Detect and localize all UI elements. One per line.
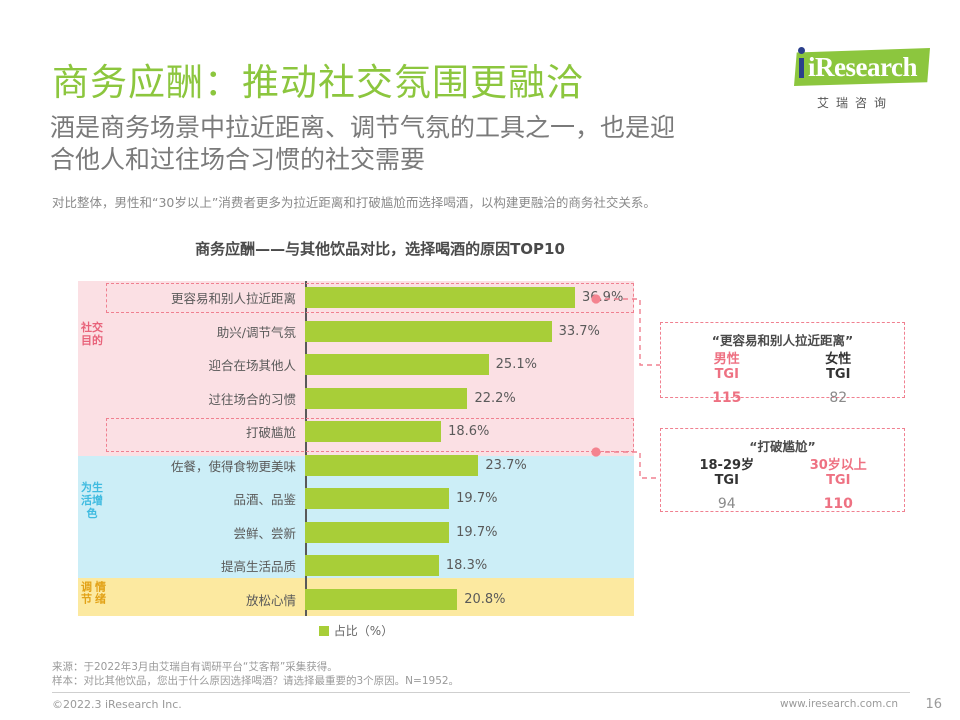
bar-zone: 20.8% bbox=[305, 583, 634, 617]
bar-value-label: 18.6% bbox=[448, 424, 489, 439]
bar-row: 过往场合的习惯22.2% bbox=[106, 382, 634, 416]
bar-zone: 36.9% bbox=[305, 281, 634, 315]
page-number: 16 bbox=[925, 697, 942, 712]
sample-line: 样本：对比其他饮品，您出于什么原因选择喝酒？请选择最重要的3个原因。N=1952… bbox=[52, 674, 552, 688]
bar-zone: 18.6% bbox=[305, 415, 634, 449]
bar-zone: 23.7% bbox=[305, 449, 634, 483]
annotation-1-left-label: 男性 bbox=[671, 352, 783, 367]
bar-value-label: 22.2% bbox=[474, 391, 515, 406]
annotation-box-age: “打破尴尬” 18-29岁 TGI 94 30岁以上 TGI 110 bbox=[660, 428, 905, 512]
bar-row: 佐餐，使得食物更美味23.7% bbox=[106, 449, 634, 483]
bar bbox=[305, 488, 449, 509]
bar-row: 放松心情20.8% bbox=[106, 583, 634, 617]
bar-category-label: 尝鲜、尝新 bbox=[106, 523, 305, 542]
bar-zone: 18.3% bbox=[305, 549, 634, 583]
legend-swatch-icon bbox=[319, 626, 329, 636]
logo-wordmark: iResearch bbox=[808, 52, 917, 83]
bar-value-label: 23.7% bbox=[485, 458, 526, 473]
chart-title: 商务应酬——与其他饮品对比，选择喝酒的原因TOP10 bbox=[0, 238, 760, 259]
annotation-1-left-sub: TGI bbox=[671, 367, 783, 382]
annotation-1-left-value: 115 bbox=[671, 390, 783, 406]
bar-category-label: 佐餐，使得食物更美味 bbox=[106, 456, 305, 475]
bar-row: 尝鲜、尝新19.7% bbox=[106, 516, 634, 550]
bar bbox=[305, 555, 439, 576]
bar-zone: 19.7% bbox=[305, 482, 634, 516]
logo-chinese-name: 艾瑞咨询 bbox=[772, 94, 932, 111]
source-line: 来源：于2022年3月由艾瑞自有调研平台“艾客帮”采集获得。 bbox=[52, 660, 552, 674]
bar-zone: 22.2% bbox=[305, 382, 634, 416]
logo-mark: iResearch bbox=[772, 44, 932, 90]
bar-row: 品酒、品鉴19.7% bbox=[106, 482, 634, 516]
bar bbox=[305, 354, 489, 375]
bar bbox=[305, 522, 449, 543]
bar-row: 提高生活品质18.3% bbox=[106, 549, 634, 583]
bar-row: 迎合在场其他人25.1% bbox=[106, 348, 634, 382]
chart-legend: 占比（%） bbox=[78, 622, 634, 639]
annotation-2-right: 30岁以上 TGI 110 bbox=[783, 458, 895, 512]
bar-category-label: 迎合在场其他人 bbox=[106, 355, 305, 374]
annotation-1-title: “更容易和别人拉近距离” bbox=[671, 330, 894, 349]
bar-zone: 33.7% bbox=[305, 315, 634, 349]
bar-category-label: 过往场合的习惯 bbox=[106, 389, 305, 408]
footer-divider bbox=[52, 692, 910, 693]
bar-chart: 社交目的 为生活增色 调节情绪 更容易和别人拉近距离36.9%助兴/调节气氛33… bbox=[78, 281, 634, 616]
bar-value-label: 19.7% bbox=[456, 525, 497, 540]
copyright-text: ©2022.3 iResearch Inc. bbox=[52, 698, 182, 711]
group-label-mood: 调节情绪 bbox=[78, 581, 108, 605]
annotation-1-right-value: 82 bbox=[783, 390, 895, 406]
bar-value-label: 19.7% bbox=[456, 491, 497, 506]
bar bbox=[305, 388, 467, 409]
bar-value-label: 25.1% bbox=[496, 357, 537, 372]
bar bbox=[305, 287, 575, 308]
annotation-2-left-value: 94 bbox=[671, 496, 783, 512]
bar-category-label: 更容易和别人拉近距离 bbox=[106, 288, 305, 307]
annotation-2-right-sub: TGI bbox=[783, 473, 895, 488]
group-label-life: 为生活增色 bbox=[78, 481, 106, 520]
annotation-2-left-label: 18-29岁 bbox=[671, 458, 783, 473]
bar-row: 助兴/调节气氛33.7% bbox=[106, 315, 634, 349]
group-label-mood-col2: 情绪 bbox=[94, 581, 107, 605]
bar-value-label: 33.7% bbox=[559, 324, 600, 339]
annotation-2-title: “打破尴尬” bbox=[671, 436, 894, 455]
source-note: 来源：于2022年3月由艾瑞自有调研平台“艾客帮”采集获得。 样本：对比其他饮品… bbox=[52, 660, 552, 688]
bar-zone: 25.1% bbox=[305, 348, 634, 382]
website-url: www.iresearch.com.cn bbox=[780, 698, 898, 710]
annotation-1-left: 男性 TGI 115 bbox=[671, 352, 783, 406]
group-label-social: 社交目的 bbox=[78, 321, 106, 347]
logo-i-dot-icon bbox=[798, 47, 805, 54]
bar-zone: 19.7% bbox=[305, 516, 634, 550]
logo-i-stem-icon bbox=[799, 58, 804, 78]
iresearch-logo: iResearch 艾瑞咨询 bbox=[772, 44, 932, 111]
bar-row: 打破尴尬18.6% bbox=[106, 415, 634, 449]
legend-label: 占比（%） bbox=[334, 622, 393, 639]
page-subtitle: 酒是商务场景中拉近距离、调节气氛的工具之一，也是迎合他人和过往场合习惯的社交需要 bbox=[50, 112, 690, 176]
bar-value-label: 20.8% bbox=[464, 592, 505, 607]
bar bbox=[305, 589, 457, 610]
group-label-mood-col1: 调节 bbox=[80, 581, 93, 605]
annotation-1-right: 女性 TGI 82 bbox=[783, 352, 895, 406]
bar bbox=[305, 321, 552, 342]
slide-root: iResearch 艾瑞咨询 商务应酬：推动社交氛围更融洽 酒是商务场景中拉近距… bbox=[0, 0, 960, 720]
annotation-2-right-label: 30岁以上 bbox=[783, 458, 895, 473]
bar-category-label: 打破尴尬 bbox=[106, 422, 305, 441]
annotation-2-right-value: 110 bbox=[783, 496, 895, 512]
bar-row: 更容易和别人拉近距离36.9% bbox=[106, 281, 634, 315]
annotation-box-gender: “更容易和别人拉近距离” 男性 TGI 115 女性 TGI 82 bbox=[660, 322, 905, 398]
bar bbox=[305, 421, 441, 442]
bar-category-label: 放松心情 bbox=[106, 590, 305, 609]
page-title: 商务应酬：推动社交氛围更融洽 bbox=[52, 52, 584, 106]
bar-category-label: 品酒、品鉴 bbox=[106, 489, 305, 508]
bar-value-label: 18.3% bbox=[446, 558, 487, 573]
bar-category-label: 助兴/调节气氛 bbox=[106, 322, 305, 341]
bar-category-label: 提高生活品质 bbox=[106, 556, 305, 575]
bar bbox=[305, 455, 478, 476]
bar-value-label: 36.9% bbox=[582, 290, 623, 305]
annotation-1-right-sub: TGI bbox=[783, 367, 895, 382]
page-description: 对比整体，男性和“30岁以上”消费者更多为拉近距离和打破尴尬而选择喝酒，以构建更… bbox=[52, 192, 912, 211]
annotation-2-left: 18-29岁 TGI 94 bbox=[671, 458, 783, 512]
annotation-1-right-label: 女性 bbox=[783, 352, 895, 367]
annotation-2-left-sub: TGI bbox=[671, 473, 783, 488]
